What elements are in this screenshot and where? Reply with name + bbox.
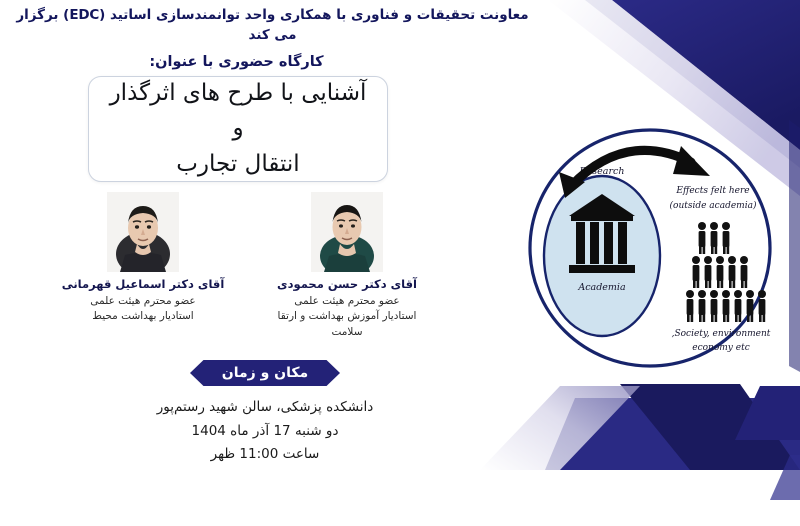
academia-label: Academia — [577, 282, 626, 293]
speaker-photo — [107, 192, 179, 272]
speaker-card: آقای دکتر حسن محمودی عضو محترم هیئت علمی… — [263, 192, 431, 341]
impact-diagram-graphic: Research Academia Effects felt here (out — [505, 128, 795, 368]
workshop-title-line-2: انتقال تجارب — [103, 147, 373, 183]
speaker-photo — [311, 192, 383, 272]
speaker-card: آقای دکتر اسماعیل قهرمانی عضو محترم هیئت… — [59, 192, 227, 341]
workshop-title-card: آشنایی با طرح های اثرگذار و انتقال تجارب — [88, 76, 388, 182]
portrait-icon — [107, 192, 179, 272]
speaker-role: عضو محترم هیئت علمی — [263, 294, 431, 310]
society-label-line-1: Society, environment, — [672, 329, 771, 339]
event-poster: معاونت تحقیقات و فناوری با همکاری واحد ت… — [0, 0, 800, 526]
workshop-subtitle: کارگاه حضوری با عنوان: — [0, 54, 545, 70]
speaker-name: آقای دکتر حسن محمودی — [263, 277, 431, 293]
society-label-line-2: economy etc — [692, 343, 749, 353]
speaker-affiliation: استادیار آموزش بهداشت و ارتقا سلامت — [263, 309, 431, 341]
poster-header: معاونت تحقیقات و فناوری با همکاری واحد ت… — [0, 6, 545, 70]
workshop-title: آشنایی با طرح های اثرگذار و انتقال تجارب — [89, 76, 387, 183]
venue-ribbon: مکان و زمان — [190, 360, 340, 386]
speaker-role: عضو محترم هیئت علمی — [59, 294, 227, 310]
speakers-section: آقای دکتر اسماعیل قهرمانی عضو محترم هیئت… — [40, 192, 450, 341]
effects-label-line-2: (outside academia) — [670, 200, 757, 211]
venue-section: مکان و زمان دانشکده پزشکی، سالن شهید رست… — [100, 360, 430, 467]
workshop-title-line-1: آشنایی با طرح های اثرگذار و — [103, 76, 373, 147]
venue-date: دو شنبه 17 آذر ماه 1404 — [100, 420, 430, 444]
speaker-name: آقای دکتر اسماعیل قهرمانی — [59, 277, 227, 293]
venue-place: دانشکده پزشکی، سالن شهید رستم‌پور — [100, 396, 430, 420]
organizer-line: معاونت تحقیقات و فناوری با همکاری واحد ت… — [0, 6, 545, 45]
research-impact-diagram: Research Academia Effects felt here (out — [505, 128, 795, 368]
venue-time: ساعت 11:00 ظهر — [100, 443, 430, 467]
speaker-affiliation: استادیار بهداشت محیط — [59, 309, 227, 325]
portrait-icon — [311, 192, 383, 272]
effects-label-line-1: Effects felt here — [675, 186, 749, 196]
